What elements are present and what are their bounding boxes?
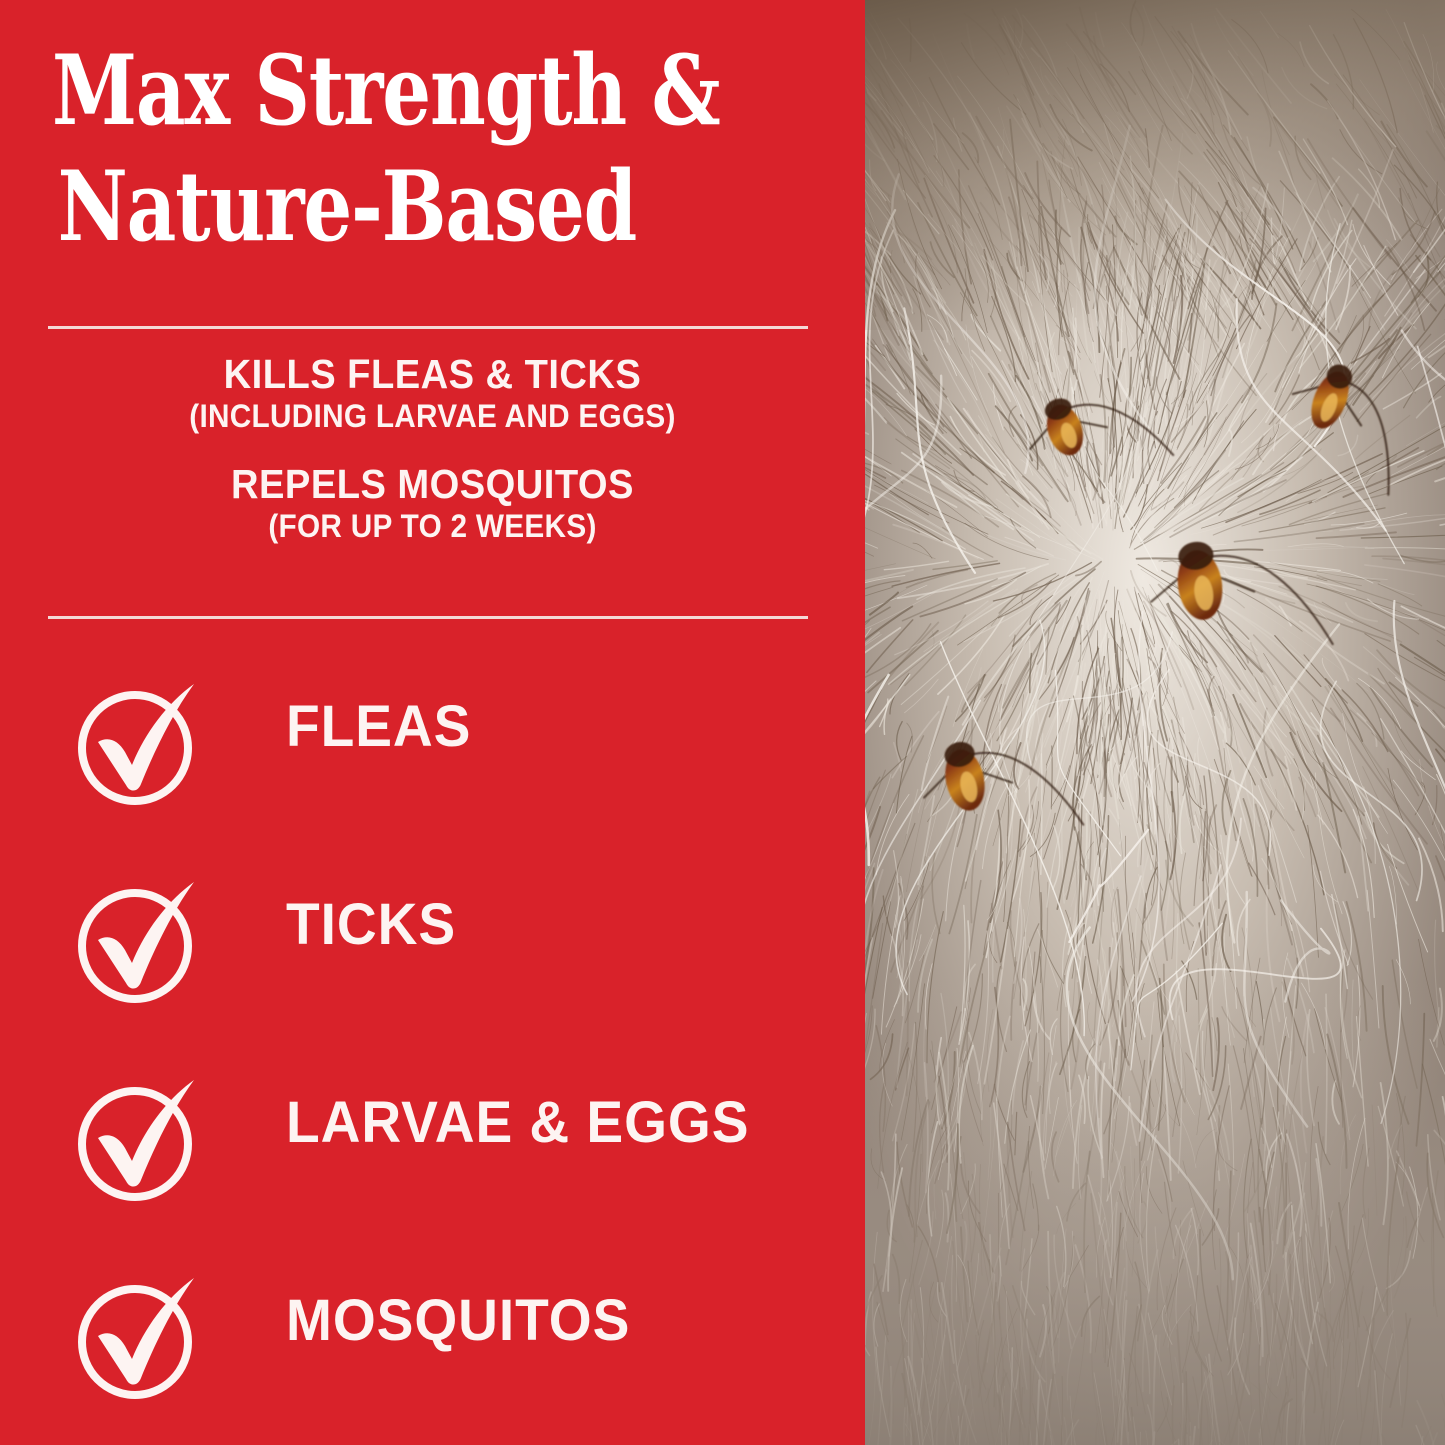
benefits-panel: Max Strength & Nature-Based KILLS FLEAS … [0,0,865,1445]
claim-sub-text: (INCLUDING LARVAE AND EGGS) [30,398,834,436]
divider-top [48,326,808,329]
check-circle-icon [72,1266,212,1406]
benefit-checklist: FLEAS TICKS [0,672,865,1445]
fur-photo [865,0,1445,1445]
check-label: TICKS [286,896,456,954]
list-item: FLEAS [0,672,865,870]
product-feature-panel: Max Strength & Nature-Based KILLS FLEAS … [0,0,1445,1445]
check-label: LARVAE & EGGS [286,1094,749,1152]
check-label: FLEAS [286,698,471,756]
claim-main-text: KILLS FLEAS & TICKS [30,352,834,398]
list-item: MOSQUITOS [0,1266,865,1445]
headline-line-2: Nature-Based [52,160,676,254]
divider-bottom [48,616,808,619]
claims-block: KILLS FLEAS & TICKS (INCLUDING LARVAE AN… [0,352,865,545]
fur-bottom-shadow [865,980,1445,1445]
headline: Max Strength & Nature-Based [52,44,832,254]
fur-top-shadow [865,0,1445,330]
list-item: LARVAE & EGGS [0,1068,865,1266]
claim-sub-text: (FOR UP TO 2 WEEKS) [30,508,834,546]
claim-item: REPELS MOSQUITOS (FOR UP TO 2 WEEKS) [0,462,865,546]
check-circle-icon [72,1068,212,1208]
check-label: MOSQUITOS [286,1292,630,1350]
claim-item: KILLS FLEAS & TICKS (INCLUDING LARVAE AN… [0,352,865,436]
check-circle-icon [72,870,212,1010]
claim-main-text: REPELS MOSQUITOS [30,462,834,508]
headline-line-1: Max Strength & [52,44,676,138]
list-item: TICKS [0,870,865,1068]
check-circle-icon [72,672,212,812]
fur-photo-image [865,0,1445,1445]
